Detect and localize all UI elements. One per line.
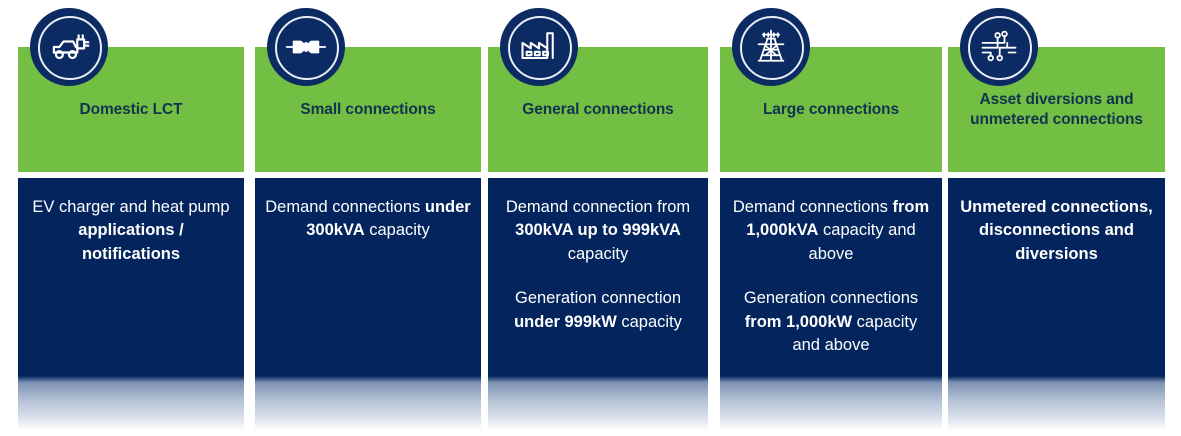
ev-charger-icon <box>30 8 108 86</box>
category-column-asset-diversions[interactable]: Asset diversions and unmetered connectio… <box>948 0 1165 436</box>
category-title: Asset diversions and unmetered connectio… <box>960 90 1153 129</box>
category-body-card: EV charger and heat pump applications / … <box>18 178 244 430</box>
factory-icon <box>500 8 578 86</box>
category-paragraph: Generation connections from 1,000kW capa… <box>730 287 932 357</box>
pylon-icon <box>732 8 810 86</box>
connection-categories-board: Domestic LCT EV charger and heat pump ap… <box>0 0 1181 436</box>
category-body-card: Demand connections from 1,000kVA capacit… <box>720 178 942 430</box>
category-column-general-connections[interactable]: General connections Demand connection fr… <box>488 0 708 436</box>
category-body-card: Unmetered connections, disconnections an… <box>948 178 1165 430</box>
category-column-large-connections[interactable]: Large connections Demand connections fro… <box>720 0 942 436</box>
category-column-small-connections[interactable]: Small connections Demand connections und… <box>255 0 481 436</box>
plug-socket-icon <box>267 8 345 86</box>
category-paragraph: Unmetered connections, disconnections an… <box>958 196 1155 266</box>
category-body-card: Demand connection from 300kVA up to 999k… <box>488 178 708 430</box>
category-paragraph: Demand connections from 1,000kVA capacit… <box>730 196 932 266</box>
category-title: Small connections <box>300 100 435 119</box>
category-column-domestic-lct[interactable]: Domestic LCT EV charger and heat pump ap… <box>18 0 244 436</box>
circuit-network-icon <box>960 8 1038 86</box>
category-title: Large connections <box>763 100 899 119</box>
category-body-card: Demand connections under 300kVA capacity <box>255 178 481 430</box>
category-title: General connections <box>522 100 673 119</box>
category-paragraph: EV charger and heat pump applications / … <box>28 196 234 266</box>
category-paragraph: Demand connections under 300kVA capacity <box>265 196 471 243</box>
category-paragraph: Demand connection from 300kVA up to 999k… <box>498 196 698 266</box>
category-title: Domestic LCT <box>79 100 182 119</box>
category-paragraph: Generation connection under 999kW capaci… <box>498 287 698 334</box>
